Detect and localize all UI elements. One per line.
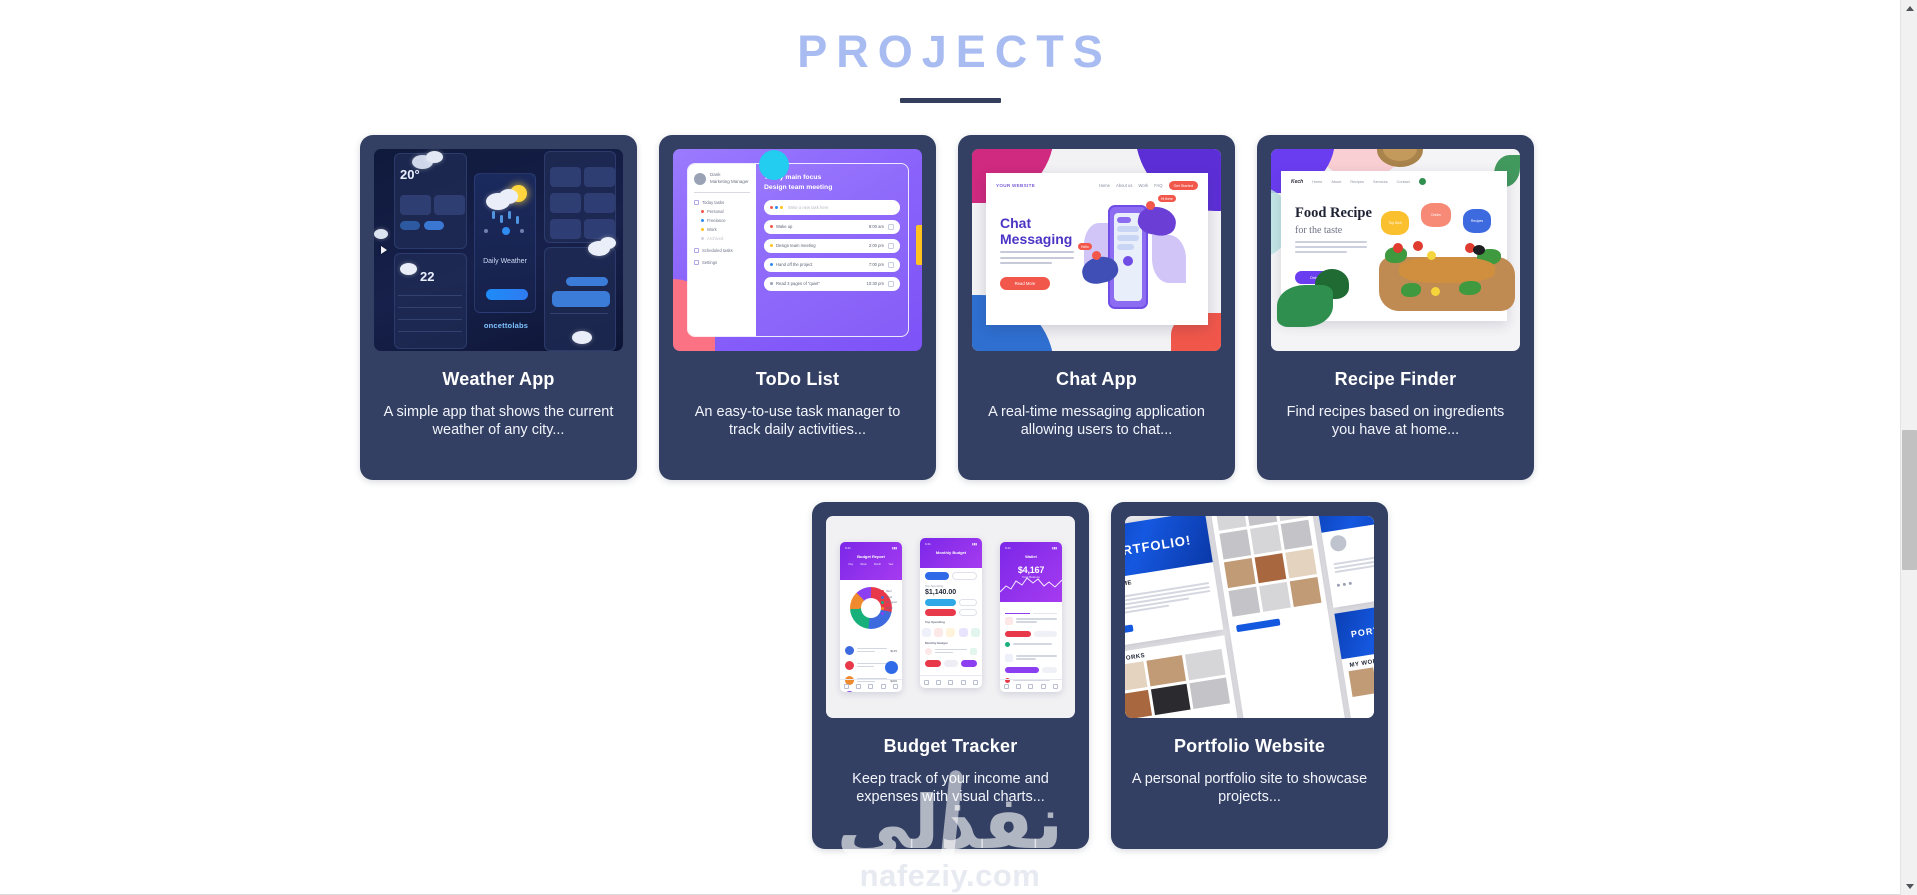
- todo-nav-item[interactable]: Personal: [694, 209, 750, 214]
- portfolio-load-more-button[interactable]: [1236, 619, 1281, 633]
- dot-icon: [770, 244, 773, 247]
- category-icon[interactable]: [959, 628, 968, 637]
- divider: [398, 319, 462, 320]
- decorative-yellow-bar: [916, 225, 922, 265]
- project-thumbnail-weather-app: 20° 22: [374, 149, 623, 351]
- project-description: A personal portfolio site to showcase pr…: [1125, 770, 1374, 806]
- recipe-nav-item[interactable]: About: [1331, 180, 1341, 184]
- chat-bubble-incoming: [1117, 226, 1139, 232]
- portfolio-gallery-thumb[interactable]: [1224, 558, 1256, 588]
- dot-icon: [770, 225, 773, 228]
- budget-category-row[interactable]: [920, 628, 982, 637]
- segment-active[interactable]: [925, 572, 949, 580]
- weather-forecast-tile: [584, 219, 615, 239]
- budget-row: [1005, 631, 1057, 637]
- segment-active[interactable]: [1005, 606, 1030, 614]
- project-thumbnail-budget-tracker: 9:41▮▮▮ Budget Report Day Week Month Yea…: [826, 516, 1075, 718]
- chat-bubble-incoming: [1117, 235, 1139, 241]
- dot-icon: [770, 206, 773, 209]
- legend-label: Food: [886, 596, 892, 599]
- chat-heading-line-1: Chat: [1000, 215, 1072, 231]
- budget-item-text: [857, 663, 887, 669]
- todo-nav-label: Today tasks: [702, 200, 724, 205]
- portfolio-work-thumb[interactable]: [1349, 668, 1374, 698]
- divider: [398, 295, 462, 296]
- budget-phone-header: 9:41▮▮▮ Budget Report Day Week Month Yea…: [840, 542, 902, 580]
- budget-phone-title: Budget Report: [845, 554, 897, 559]
- status-bar: 9:41▮▮▮: [925, 542, 977, 546]
- weather-stat-tile: [434, 195, 465, 215]
- portfolio-gallery-thumb[interactable]: [1281, 520, 1313, 550]
- todo-task-time: 7:00 pm: [869, 262, 884, 267]
- calendar-icon: [694, 248, 699, 253]
- portfolio-gallery-thumb[interactable]: [1255, 553, 1287, 583]
- dot-icon: [775, 206, 778, 209]
- chevron-down-icon: [1906, 884, 1914, 889]
- nav-profile-icon[interactable]: [973, 680, 978, 685]
- status-icon: [1005, 642, 1010, 647]
- todo-task-label: Hand off the project: [776, 262, 812, 267]
- tab-year[interactable]: Year: [888, 563, 893, 566]
- legend-label: Fun: [886, 612, 890, 615]
- todo-task-time: 2:00 pm: [869, 243, 884, 248]
- project-card-weather-app[interactable]: 20° 22: [360, 135, 637, 480]
- nav-budget-icon[interactable]: [881, 684, 886, 689]
- budget-note-row: [1000, 640, 1062, 649]
- todo-nav-label: Personal: [707, 209, 724, 214]
- todo-task-label: Wake up: [776, 224, 792, 229]
- weather-headline: Daily Weather: [478, 257, 532, 268]
- budget-phone-title: Monthly Budget: [925, 550, 977, 555]
- budget-section-label: Top Spending: [925, 620, 977, 624]
- todo-task-label: Design team meeting: [776, 243, 816, 248]
- recipe-logo: Kech: [1291, 179, 1303, 185]
- todo-app-window: Dank Marketing Manager Today tasks: [687, 163, 909, 337]
- browser-viewport: PROJECTS 20°: [0, 0, 1917, 895]
- projects-grid-row-1: 20° 22: [360, 135, 1540, 480]
- budget-segment-control[interactable]: [1005, 606, 1057, 614]
- weather-forecast-tile: [550, 219, 581, 239]
- list-icon: [694, 200, 699, 205]
- todo-nav-item[interactable]: Freelance: [694, 218, 750, 223]
- food-mint-leaves: [1277, 285, 1333, 327]
- nav-home-icon[interactable]: [1004, 684, 1009, 689]
- text-line: [1295, 246, 1367, 248]
- project-title: ToDo List: [673, 369, 922, 390]
- avatar: [1329, 534, 1347, 552]
- portfolio-work-thumb[interactable]: [1125, 662, 1147, 693]
- food-tomato: [1413, 241, 1423, 251]
- category-icon: [1005, 617, 1013, 625]
- status-bar: 9:41▮▮▮: [1005, 546, 1057, 550]
- budget-list-item[interactable]: [1000, 649, 1062, 664]
- legend-label: Rent: [886, 590, 891, 593]
- project-description: An easy-to-use task manager to track dai…: [673, 403, 922, 439]
- weather-temp-main: 20°: [400, 167, 420, 182]
- weather-chat-bubble: [552, 291, 610, 307]
- chat-logo: YOUR WEBSITE: [996, 183, 1035, 188]
- budget-item-text: [935, 649, 967, 655]
- chat-nav-item[interactable]: Home: [1099, 183, 1110, 188]
- legend-label: Other: [886, 607, 893, 610]
- chat-heading: Chat Messaging: [1000, 215, 1072, 247]
- divider: [398, 331, 462, 332]
- category-icon: [845, 646, 854, 655]
- chat-paragraph: [1000, 251, 1074, 268]
- recipe-nav-item[interactable]: Contact: [1397, 180, 1410, 184]
- portfolio-gallery-thumb[interactable]: [1250, 525, 1282, 555]
- portfolio-mockup-group: PORTFOLIO! ABOUT ME MY WORKS: [1125, 516, 1374, 718]
- recipe-category-chip[interactable]: Top Dish: [1381, 211, 1409, 235]
- recipe-category-chip[interactable]: Drinks: [1421, 203, 1451, 227]
- avatar: [694, 173, 706, 185]
- tab-week[interactable]: Week: [860, 563, 867, 566]
- chat-send-icon: [1123, 256, 1133, 266]
- todo-nav-label: Scheduled tasks: [702, 248, 733, 253]
- segment-inactive[interactable]: [952, 572, 978, 580]
- category-icon: [925, 648, 932, 655]
- todo-focus-line-2: Design team meeting: [764, 183, 900, 193]
- weather-get-started-button[interactable]: [486, 289, 528, 300]
- todo-nav-item[interactable]: Settings: [694, 260, 750, 265]
- weather-chat-bubble: [566, 277, 608, 286]
- weather-temp-secondary: 22: [420, 269, 434, 284]
- portfolio-gallery-thumb[interactable]: [1215, 516, 1247, 531]
- weather-forecast-tile: [584, 167, 615, 187]
- todo-nav-item[interactable]: Work: [694, 227, 750, 232]
- budget-list-item[interactable]: [1000, 614, 1062, 628]
- todo-nav-label: Settings: [702, 260, 717, 265]
- text-line: [1000, 251, 1074, 253]
- todo-user-role: Marketing Manager: [710, 179, 749, 186]
- project-card-portfolio-website[interactable]: PORTFOLIO! ABOUT ME MY WORKS: [1111, 502, 1388, 849]
- scroll-down-button[interactable]: [1901, 878, 1917, 895]
- weather-chip: [424, 221, 444, 230]
- project-description: A real-time messaging application allowi…: [972, 403, 1221, 439]
- budget-phone-mockup-2: 9:41▮▮▮ Monthly Budget Top Spending $1,1…: [920, 538, 982, 688]
- chevron-up-icon: [1906, 6, 1914, 11]
- chat-tag-hello: Hello: [1078, 243, 1092, 250]
- divider: [694, 192, 750, 193]
- raindrop-icon: [508, 211, 511, 219]
- cloud-icon: [374, 229, 388, 239]
- project-thumbnail-todo-list: Dank Marketing Manager Today tasks: [673, 149, 922, 351]
- budget-phone-mockup-3: 9:41▮▮▮ Wallet $4,167 Total Balance: [1000, 542, 1062, 692]
- scrollbar-thumb[interactable]: [1902, 430, 1917, 570]
- dot-icon: [770, 263, 773, 266]
- portfolio-work-thumb[interactable]: [1151, 684, 1191, 715]
- nav-home-icon[interactable]: [844, 684, 849, 689]
- nav-wallet-icon[interactable]: [856, 684, 861, 689]
- recipe-landing-page: Kech Home About Recipes Services Contact…: [1281, 171, 1507, 321]
- chat-phone-screen: [1114, 213, 1142, 301]
- dot-icon: [780, 206, 783, 209]
- project-card-budget-tracker[interactable]: 9:41▮▮▮ Budget Report Day Week Month Yea…: [812, 502, 1089, 849]
- todo-user-row: Dank Marketing Manager: [694, 172, 750, 186]
- category-icon: [1005, 654, 1013, 662]
- budget-bottom-nav[interactable]: [840, 679, 902, 692]
- weather-forecast-tile: [550, 193, 581, 213]
- project-thumbnail-recipe-finder: Kech Home About Recipes Services Contact…: [1271, 149, 1520, 351]
- status-icon: [970, 648, 977, 655]
- nav-budget-icon[interactable]: [1041, 684, 1046, 689]
- chat-tag-hi-there: Hi there: [1158, 195, 1176, 202]
- nav-stats-icon[interactable]: [868, 684, 873, 689]
- portfolio-cta-button[interactable]: [1125, 625, 1134, 637]
- budget-phone-header: 9:41▮▮▮ Wallet $4,167 Total Balance: [1000, 542, 1062, 602]
- budget-list-item[interactable]: $125: [840, 643, 902, 658]
- recipe-category-chip[interactable]: Recipes: [1463, 209, 1491, 233]
- budget-amount: $1,140.00: [925, 589, 977, 596]
- portfolio-gallery-thumb[interactable]: [1219, 530, 1251, 560]
- todo-nav-label: Work: [707, 227, 717, 232]
- todo-new-task-input[interactable]: Write a new task here: [764, 200, 900, 215]
- project-title: Budget Tracker: [826, 736, 1075, 757]
- dot-icon: [701, 210, 704, 213]
- project-description: Find recipes based on ingredients you ha…: [1271, 403, 1520, 439]
- category-icon: [845, 661, 854, 670]
- projects-page: PROJECTS 20°: [0, 0, 1900, 895]
- todo-task-row[interactable]: Hand off the project 7:00 pm: [764, 258, 900, 272]
- recipe-nav-item[interactable]: Services: [1373, 180, 1388, 184]
- budget-segment-control[interactable]: [925, 572, 977, 580]
- portfolio-hero-banner-3: PORTFOLIO!: [1334, 600, 1374, 660]
- budget-phone-mockup-1: 9:41▮▮▮ Budget Report Day Week Month Yea…: [840, 542, 902, 692]
- raindrop-icon: [516, 216, 519, 224]
- chat-bubble-outgoing: [1117, 217, 1131, 223]
- projects-grid-row-2: 9:41▮▮▮ Budget Report Day Week Month Yea…: [360, 502, 1540, 849]
- category-icon[interactable]: [934, 628, 943, 637]
- budget-row: [925, 660, 977, 667]
- weather-stat-tile: [400, 195, 431, 215]
- todo-nav-item[interactable]: Archived: [694, 236, 750, 241]
- tab-day[interactable]: Day: [849, 563, 854, 566]
- legend-item: Other: [881, 607, 897, 610]
- dot-icon: [770, 282, 773, 285]
- budget-section-label-2: Monthly Budget: [925, 641, 977, 645]
- title-underline: [900, 98, 1001, 103]
- category-icon[interactable]: [946, 628, 955, 637]
- nav-home-icon[interactable]: [924, 680, 929, 685]
- nav-wallet-icon[interactable]: [1016, 684, 1021, 689]
- legend-item: Food: [881, 596, 897, 599]
- cart-icon[interactable]: [1419, 178, 1426, 185]
- portfolio-work-thumb[interactable]: [1185, 649, 1225, 680]
- todo-nav-label: Archived: [707, 236, 723, 241]
- portfolio-work-thumb[interactable]: [1190, 678, 1230, 709]
- weather-forecast-tile: [550, 167, 581, 187]
- vertical-scrollbar[interactable]: [1900, 0, 1917, 895]
- text-line: [1000, 262, 1052, 264]
- project-title: Chat App: [972, 369, 1221, 390]
- portfolio-work-thumb[interactable]: [1125, 690, 1152, 718]
- todo-task-label: Read 3 pages of "quiet": [776, 281, 820, 286]
- budget-row: [925, 599, 977, 606]
- nav-profile-icon[interactable]: [1053, 684, 1058, 689]
- chat-nav-item[interactable]: Work: [1138, 183, 1148, 188]
- category-icon[interactable]: [922, 628, 931, 637]
- text-line: [1000, 257, 1074, 259]
- portfolio-gallery-thumb[interactable]: [1259, 582, 1291, 612]
- divider: [550, 313, 608, 314]
- todo-sidebar: Dank Marketing Manager Today tasks: [688, 164, 756, 336]
- todo-task-time: 10:30 pm: [867, 281, 884, 286]
- recipe-nav-item[interactable]: Home: [1312, 180, 1322, 184]
- project-thumbnail-chat-app: YOUR WEBSITE Home About us Work FAQ Get …: [972, 149, 1221, 351]
- portfolio-gallery-thumb[interactable]: [1285, 549, 1317, 579]
- raindrop-icon: [492, 211, 495, 219]
- chat-read-more-button[interactable]: Read More: [1000, 277, 1050, 290]
- todo-task-row[interactable]: Design team meeting 2:00 pm: [764, 239, 900, 253]
- project-description: Keep track of your income and expenses w…: [826, 770, 1075, 806]
- recipe-nav-item[interactable]: Recipes: [1350, 180, 1364, 184]
- chat-nav-item[interactable]: About us: [1116, 183, 1133, 188]
- weather-brand-label: oncettolabs: [470, 321, 542, 330]
- portfolio-sheet-hero: PORTFOLIO! ABOUT ME: [1125, 516, 1223, 649]
- budget-item-text: [1016, 655, 1057, 661]
- project-title: Weather App: [374, 369, 623, 390]
- legend-item: Rent: [881, 590, 897, 593]
- portfolio-gallery-thumb[interactable]: [1228, 587, 1260, 617]
- budget-note-text: [1013, 643, 1057, 646]
- scroll-up-button[interactable]: [1901, 0, 1917, 17]
- todo-input-placeholder: Write a new task here: [788, 205, 828, 210]
- category-icon[interactable]: [971, 628, 980, 637]
- todo-task-row[interactable]: Read 3 pages of "quiet" 10:30 pm: [764, 277, 900, 291]
- budget-bottom-nav[interactable]: [920, 675, 982, 688]
- projects-section-header: PROJECTS: [0, 0, 1900, 103]
- chat-navbar: YOUR WEBSITE Home About us Work FAQ Get …: [986, 173, 1208, 198]
- nav-stats-icon[interactable]: [948, 680, 953, 685]
- dot-icon: [701, 228, 704, 231]
- checkbox[interactable]: [888, 262, 894, 268]
- budget-bottom-nav[interactable]: [1000, 679, 1062, 692]
- budget-list-item[interactable]: [920, 646, 982, 657]
- weather-forecast-tile: [584, 193, 615, 213]
- portfolio-sheet-works: MY WORKS: [1125, 635, 1243, 718]
- social-icon[interactable]: [1337, 584, 1340, 587]
- raindrop-icon: [500, 215, 503, 223]
- budget-line-chart: [1000, 572, 1062, 598]
- todo-task-row[interactable]: Wake up 8:00 am: [764, 220, 900, 234]
- legend-label: Transport: [886, 601, 897, 604]
- social-icon[interactable]: [1343, 583, 1346, 586]
- budget-phone-header: 9:41▮▮▮ Monthly Budget: [920, 538, 982, 568]
- budget-item-text: [1016, 618, 1057, 624]
- text-line: [1295, 241, 1367, 243]
- project-card-recipe-finder[interactable]: Kech Home About Recipes Services Contact…: [1257, 135, 1534, 480]
- social-icon[interactable]: [1349, 582, 1352, 585]
- todo-user-name: Dank: [710, 172, 749, 179]
- text-line: [1295, 251, 1347, 253]
- todo-nav-label: Freelance: [707, 218, 726, 223]
- dot-icon: [701, 237, 704, 240]
- budget-item-value: $125: [890, 649, 897, 653]
- mouse-cursor: [381, 246, 387, 254]
- nav-profile-icon[interactable]: [893, 684, 898, 689]
- chat-nav-item[interactable]: FAQ: [1154, 183, 1162, 188]
- status-bar: 9:41▮▮▮: [845, 546, 897, 550]
- legend-item: Fun: [881, 612, 897, 615]
- nav-budget-icon[interactable]: [961, 680, 966, 685]
- portfolio-gallery-grid: [1209, 516, 1327, 622]
- todo-nav-item[interactable]: Scheduled tasks: [694, 248, 750, 253]
- recipe-paragraph: [1295, 241, 1367, 255]
- segment-inactive[interactable]: [1033, 606, 1058, 614]
- project-title: Portfolio Website: [1125, 736, 1374, 757]
- portfolio-work-thumb[interactable]: [1146, 655, 1186, 686]
- project-thumbnail-portfolio-website: PORTFOLIO! ABOUT ME MY WORKS: [1125, 516, 1374, 718]
- budget-row: [925, 609, 977, 616]
- todo-task-time: 8:00 am: [869, 224, 884, 229]
- divider: [398, 307, 462, 308]
- budget-item-text: [857, 648, 887, 654]
- checkbox[interactable]: [888, 224, 894, 230]
- budget-phone-title: Wallet: [1005, 554, 1057, 559]
- recipe-heading-line-1: Food Recipe: [1295, 205, 1372, 222]
- chat-heading-line-2: Messaging: [1000, 231, 1072, 247]
- project-card-todo-list[interactable]: Dank Marketing Manager Today tasks: [659, 135, 936, 480]
- project-card-chat-app[interactable]: YOUR WEBSITE Home About us Work FAQ Get …: [958, 135, 1235, 480]
- nav-wallet-icon[interactable]: [936, 680, 941, 685]
- project-description: A simple app that shows the current weat…: [374, 403, 623, 439]
- checkbox[interactable]: [888, 243, 894, 249]
- tab-month[interactable]: Month: [874, 563, 881, 566]
- portfolio-hero-banner-2: PORTFO: [1315, 516, 1374, 533]
- todo-main-panel: Today main focus Design team meeting Wri…: [756, 164, 908, 336]
- budget-row: [1005, 667, 1057, 673]
- legend-item: Transport: [881, 601, 897, 604]
- recipe-navbar: Kech Home About Recipes Services Contact: [1281, 171, 1507, 192]
- gear-icon: [694, 260, 699, 265]
- chat-cta-button[interactable]: Get Started: [1169, 181, 1198, 190]
- chat-landing-page: YOUR WEBSITE Home About us Work FAQ Get …: [986, 173, 1208, 325]
- decorative-leaf: [1152, 235, 1186, 283]
- portfolio-gallery-thumb[interactable]: [1290, 577, 1322, 607]
- weather-chip: [400, 221, 420, 230]
- project-title: Recipe Finder: [1271, 369, 1520, 390]
- todo-nav-item[interactable]: Today tasks: [694, 200, 750, 205]
- dot-icon: [701, 219, 704, 222]
- food-meat: [1399, 257, 1495, 283]
- page-title: PROJECTS: [0, 28, 1900, 75]
- watermark-domain: nafeziy.com: [860, 860, 1041, 891]
- budget-period-tabs[interactable]: Day Week Month Year: [845, 563, 897, 566]
- budget-chart-legend: Rent Food Transport Other Fun: [881, 590, 897, 618]
- chat-bubble-incoming: [1117, 244, 1134, 250]
- budget-amount-caption: Top Spending: [925, 584, 977, 588]
- checkbox[interactable]: [888, 281, 894, 287]
- recipe-heading-line-2: for the taste: [1295, 225, 1342, 236]
- nav-stats-icon[interactable]: [1028, 684, 1033, 689]
